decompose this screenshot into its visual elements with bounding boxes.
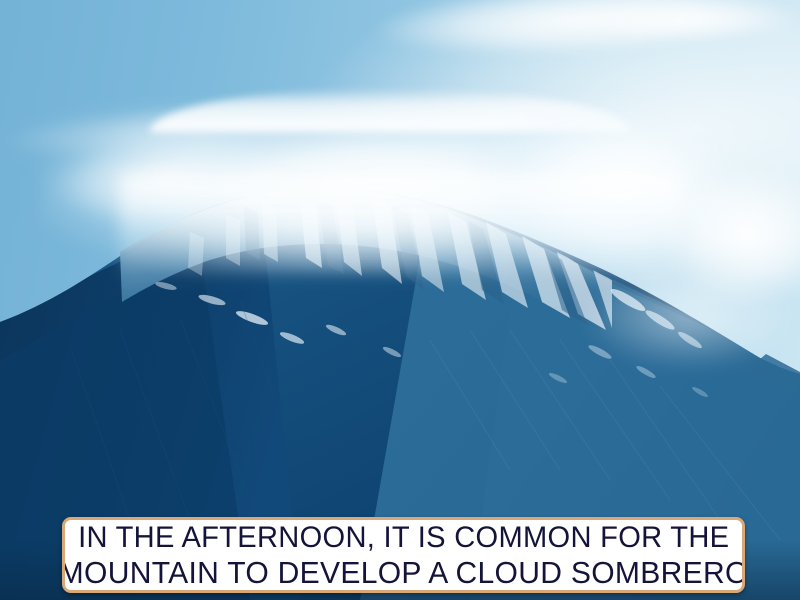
caption-line-1: IN THE AFTERNOON, IT IS COMMON FOR THE [78,520,729,555]
caption-line-2: MOUNTAIN TO DEVELOP A CLOUD SOMBRERO [62,555,745,590]
screenshot-root: IN THE AFTERNOON, IT IS COMMON FOR THE M… [0,0,800,600]
caption-box: IN THE AFTERNOON, IT IS COMMON FOR THE M… [62,517,745,593]
cloud-haze-lower-right [560,250,800,380]
lenticular-cloud-cap [0,0,800,600]
